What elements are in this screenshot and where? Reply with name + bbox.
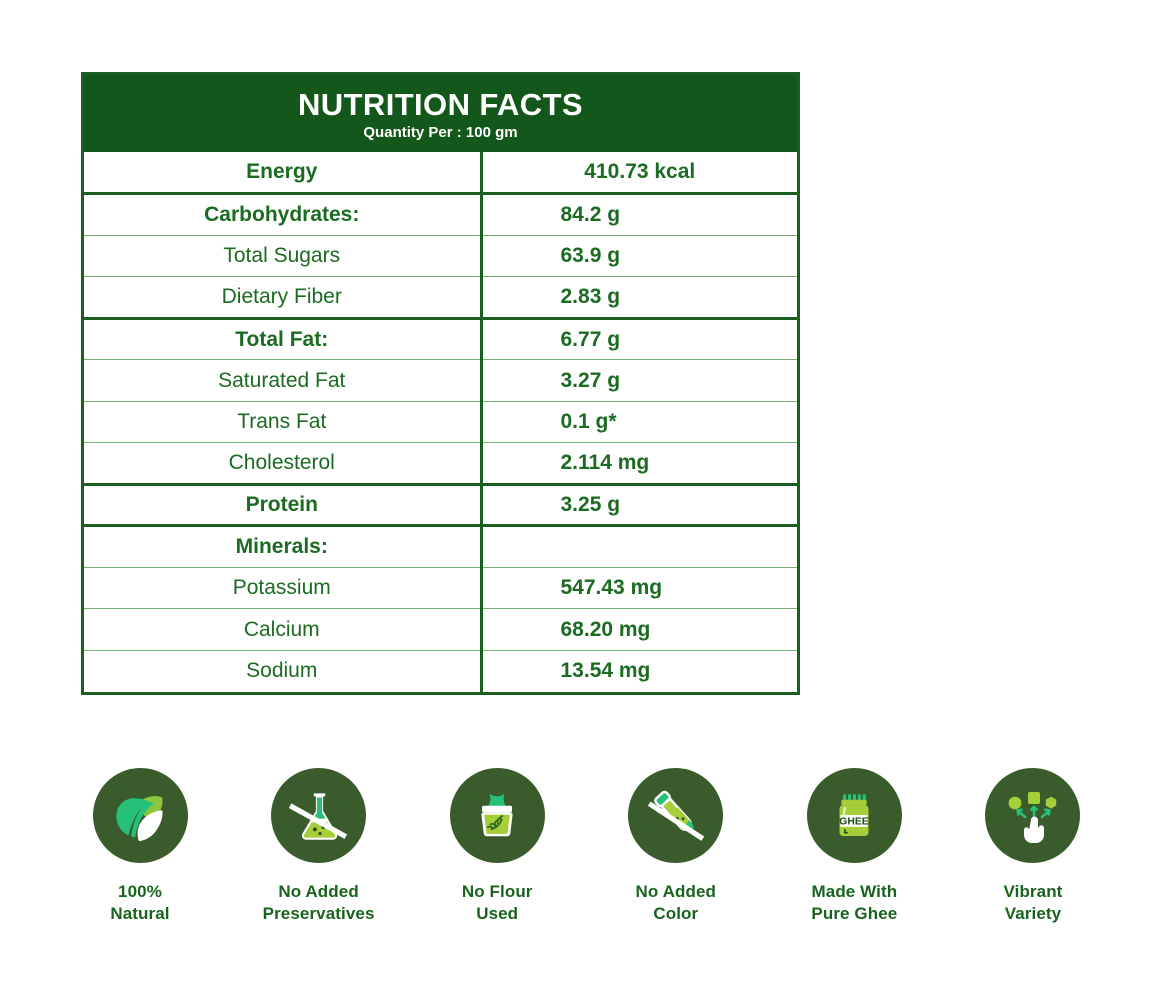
- feature-badge: No Added Preservatives: [239, 768, 399, 926]
- nutrient-label: Cholesterol: [84, 443, 481, 485]
- table-row: Dietary Fiber2.83 g: [84, 277, 797, 319]
- nutrient-label: Energy: [84, 152, 481, 194]
- table-row: Potassium547.43 mg: [84, 567, 797, 609]
- feature-badge-label: Made With Pure Ghee: [811, 881, 897, 926]
- nutrition-table: Energy410.73 kcalCarbohydrates:84.2 gTot…: [84, 152, 797, 692]
- nutrient-value: 6.77 g: [481, 318, 797, 360]
- feature-badge-label: Vibrant Variety: [1003, 881, 1062, 926]
- table-row: Sodium13.54 mg: [84, 650, 797, 692]
- nutrient-label: Carbohydrates:: [84, 194, 481, 236]
- nutrient-value: 13.54 mg: [481, 650, 797, 692]
- svg-text:GHEE: GHEE: [840, 816, 870, 827]
- nutrient-label: Dietary Fiber: [84, 277, 481, 319]
- table-row: Total Fat:6.77 g: [84, 318, 797, 360]
- table-row: Carbohydrates:84.2 g: [84, 194, 797, 236]
- table-row: Minerals:: [84, 526, 797, 568]
- flask-crossed-icon: [271, 768, 366, 863]
- ghee-jar-icon: GHEE: [807, 768, 902, 863]
- nutrient-value: [481, 526, 797, 568]
- feature-badge-row: 100% NaturalNo Added PreservativesNo Flo…: [60, 768, 1113, 926]
- flour-sack-icon: [450, 768, 545, 863]
- nutrient-value: 0.1 g*: [481, 401, 797, 443]
- nutrient-value: 68.20 mg: [481, 609, 797, 651]
- table-row: Calcium68.20 mg: [84, 609, 797, 651]
- feature-badge: Vibrant Variety: [953, 768, 1113, 926]
- nutrient-label: Trans Fat: [84, 401, 481, 443]
- nutrient-value: 3.27 g: [481, 360, 797, 402]
- feature-badge-label: No Added Color: [636, 881, 716, 926]
- feature-badge-label: 100% Natural: [110, 881, 169, 926]
- nutrient-value: 3.25 g: [481, 484, 797, 526]
- test-tube-crossed-icon: [628, 768, 723, 863]
- feature-badge: No Flour Used: [417, 768, 577, 926]
- nutrient-label: Sodium: [84, 650, 481, 692]
- feature-badge: No Added Color: [596, 768, 756, 926]
- nutrient-label: Total Fat:: [84, 318, 481, 360]
- page-title: NUTRITION FACTS: [94, 89, 787, 122]
- nutrient-label: Total Sugars: [84, 235, 481, 277]
- feature-badge: GHEEMade With Pure Ghee: [774, 768, 934, 926]
- feature-badge-label: No Added Preservatives: [263, 881, 375, 926]
- table-row: Saturated Fat3.27 g: [84, 360, 797, 402]
- nutrient-value: 2.114 mg: [481, 443, 797, 485]
- hand-shapes-icon: [985, 768, 1080, 863]
- nutrient-label: Potassium: [84, 567, 481, 609]
- nutrition-facts-panel: NUTRITION FACTS Quantity Per : 100 gm En…: [81, 72, 800, 695]
- nutrient-label: Calcium: [84, 609, 481, 651]
- nutrient-value: 2.83 g: [481, 277, 797, 319]
- nutrient-label: Saturated Fat: [84, 360, 481, 402]
- table-row: Energy410.73 kcal: [84, 152, 797, 194]
- nutrient-label: Protein: [84, 484, 481, 526]
- nutrient-value: 84.2 g: [481, 194, 797, 236]
- feature-badge-label: No Flour Used: [462, 881, 533, 926]
- table-row: Cholesterol2.114 mg: [84, 443, 797, 485]
- nutrient-value: 547.43 mg: [481, 567, 797, 609]
- nutrient-label: Minerals:: [84, 526, 481, 568]
- nutrition-table-body: Energy410.73 kcalCarbohydrates:84.2 gTot…: [84, 152, 797, 692]
- nutrition-facts-header: NUTRITION FACTS Quantity Per : 100 gm: [84, 75, 797, 152]
- table-row: Trans Fat0.1 g*: [84, 401, 797, 443]
- nutrient-value: 410.73 kcal: [481, 152, 797, 194]
- leaves-icon: [93, 768, 188, 863]
- feature-badge: 100% Natural: [60, 768, 220, 926]
- table-row: Protein3.25 g: [84, 484, 797, 526]
- nutrient-value: 63.9 g: [481, 235, 797, 277]
- serving-size-subtitle: Quantity Per : 100 gm: [94, 125, 787, 142]
- table-row: Total Sugars63.9 g: [84, 235, 797, 277]
